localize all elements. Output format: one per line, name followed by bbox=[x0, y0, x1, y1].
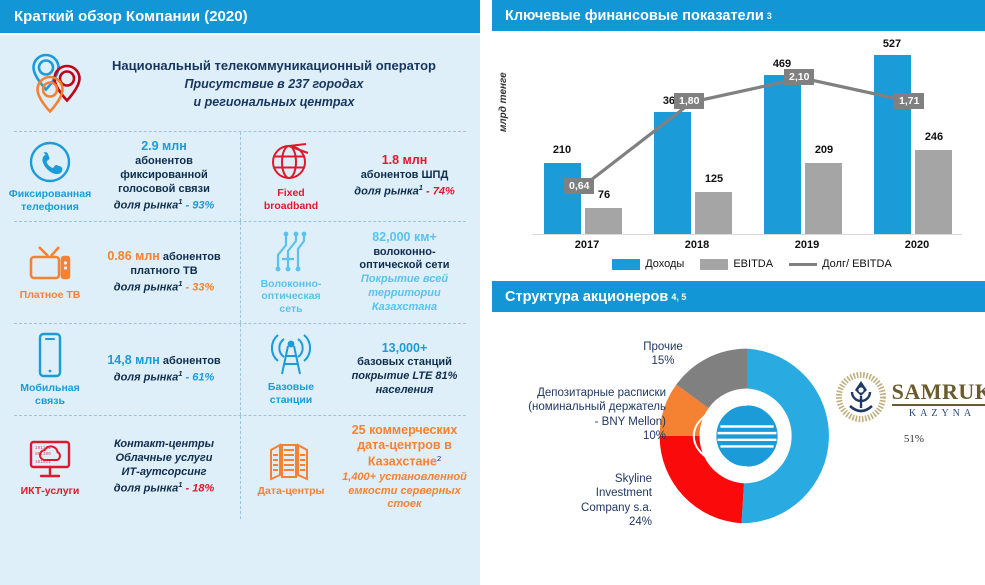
feature-text: 82,000 км+ волоконно- оптической сети По… bbox=[333, 230, 476, 315]
ratio-label-2018: 1,80 bbox=[674, 93, 704, 109]
feature-row: Мобильная связь 14,8 млн абонентов доля … bbox=[0, 324, 480, 415]
x-tick-2017: 2017 bbox=[532, 239, 642, 251]
feature-highlight: 13,000+ bbox=[335, 341, 474, 357]
market-share-label: доля рынка bbox=[114, 282, 178, 294]
x-tick-2019: 2019 bbox=[752, 239, 862, 251]
smartphone-icon: Мобильная связь bbox=[8, 331, 92, 408]
hero-line-1: Национальный телекоммуникационный операт… bbox=[100, 58, 448, 75]
feature-icon-label: Базовые станции bbox=[249, 381, 333, 407]
shareholders-header: Структура акционеров4, 5 bbox=[492, 281, 985, 312]
ratio-label-2020: 1,71 bbox=[894, 93, 924, 109]
footnote-ref: 4, 5 bbox=[671, 292, 686, 302]
chart-legend: Доходы EBITDA Долг/ EBITDA bbox=[532, 258, 972, 270]
ratio-label-2017: 0,64 bbox=[564, 178, 594, 194]
ict-cloud-monitor-icon: 101101001100101011 ИКТ-услуги bbox=[8, 438, 92, 498]
feature-highlight: 25 коммерческих bbox=[335, 423, 474, 439]
legend-swatch-icon bbox=[612, 259, 640, 270]
legend-line-icon bbox=[789, 263, 817, 266]
feature-icon-label: Фиксированная телефония bbox=[8, 188, 92, 214]
feature-text: 25 коммерческих дата-центров в Казахстан… bbox=[333, 423, 476, 513]
hero-block: Национальный телекоммуникационный операт… bbox=[0, 35, 480, 131]
samruk-kazyna-block: SAMRUK KAZYNA 51% bbox=[844, 372, 984, 445]
legend-label: EBITDA bbox=[733, 258, 773, 270]
market-share-value: - 74% bbox=[426, 186, 455, 198]
feature-line-1: волоконно- bbox=[335, 246, 474, 260]
fiber-optic-icon: Волоконно-оптическая сеть bbox=[249, 229, 333, 316]
x-axis-line bbox=[532, 234, 962, 235]
financials-bar-chart: млрд тенге 210 76 361 125 469 bbox=[492, 36, 985, 272]
debt-ebitda-line bbox=[532, 44, 972, 234]
market-share-value: - 18% bbox=[185, 483, 214, 495]
feature-icon-label: Fixed broadband bbox=[249, 187, 333, 213]
samruk-name: SAMRUK bbox=[892, 381, 985, 406]
cell-tower-icon: Базовые станции bbox=[249, 332, 333, 407]
company-overview-title: Краткий обзор Компании (2020) bbox=[14, 8, 248, 25]
feature-line-2: покрытие LTE 81% bbox=[335, 370, 474, 384]
feature-market-share: доля рынка1 - 18% bbox=[94, 480, 234, 497]
map-pins-icon bbox=[14, 47, 100, 121]
market-share-value: - 33% bbox=[185, 282, 214, 294]
feature-highlight-line: 14,8 млн абонентов bbox=[94, 353, 234, 369]
feature-highlight: 1.8 млн bbox=[335, 153, 474, 169]
feature-highlight: Контакт-центры bbox=[94, 438, 234, 452]
footnote-ref: 1 bbox=[178, 279, 182, 288]
pie-label-skyline: Skyline Investment Company s.a. 24% bbox=[534, 472, 652, 530]
market-share-label: доля рынка bbox=[354, 186, 418, 198]
company-overview-header: Краткий обзор Компании (2020) bbox=[0, 0, 480, 33]
footnote-ref: 1 bbox=[178, 197, 182, 206]
feature-row: Платное ТВ 0.86 млн абонентов платного Т… bbox=[0, 222, 480, 323]
feature-line-1: абонентов ШПД bbox=[335, 169, 474, 183]
feature-text: 13,000+ базовых станций покрытие LTE 81%… bbox=[333, 341, 476, 398]
slide-root: Краткий обзор Компании (2020) bbox=[0, 0, 985, 585]
feature-line-3: Покрытие всей территории Казахстана bbox=[335, 273, 474, 315]
pie-label-pct: 10% bbox=[498, 429, 666, 443]
svg-text:001100: 001100 bbox=[35, 452, 51, 457]
feature-line-2: фиксированной bbox=[94, 169, 234, 183]
key-financials-header: Ключевые финансовые показатели3 bbox=[492, 0, 985, 31]
feature-market-share: доля рынка1 - 74% bbox=[335, 183, 474, 200]
company-overview-panel: Краткий обзор Компании (2020) bbox=[0, 0, 480, 585]
feature-cell-ict: 101101001100101011 ИКТ-услуги Контакт-це… bbox=[0, 416, 240, 520]
feature-line-2: платного ТВ bbox=[94, 265, 234, 279]
feature-line-1: дата-центров в bbox=[357, 438, 452, 452]
feature-icon-label: Мобильная связь bbox=[8, 382, 92, 408]
shareholders-panel: Структура акционеров4, 5 bbox=[492, 281, 985, 585]
footnote-ref: 1 bbox=[178, 369, 182, 378]
samruk-percent: 51% bbox=[844, 433, 984, 445]
market-share-value: - 61% bbox=[185, 372, 214, 384]
feature-cell-fixed-broadband: Fixed broadband 1.8 млн абонентов ШПД до… bbox=[240, 132, 480, 221]
pie-label-line-1: Депозитарные расписки bbox=[498, 386, 666, 400]
x-tick-2020: 2020 bbox=[862, 239, 972, 251]
pie-label-name: Прочие bbox=[618, 340, 708, 354]
feature-cell-mobile: Мобильная связь 14,8 млн абонентов доля … bbox=[0, 324, 240, 415]
feature-text: 1.8 млн абонентов ШПД доля рынка1 - 74% bbox=[333, 153, 476, 199]
data-center-icon: Дата-центры bbox=[249, 438, 333, 498]
key-financials-title: Ключевые финансовые показатели bbox=[505, 8, 764, 24]
pie-label-pct: 24% bbox=[534, 515, 652, 529]
pie-label-line-1: Skyline bbox=[534, 472, 652, 486]
feature-highlight: 0.86 млн bbox=[107, 249, 160, 263]
feature-line-1: базовых станций bbox=[335, 356, 474, 370]
shareholders-body: Прочие 15% Депозитарные расписки (номина… bbox=[492, 314, 985, 585]
hero-line-2a: Присутствие в 237 городах bbox=[100, 76, 448, 92]
hero-text: Национальный телекоммуникационный операт… bbox=[100, 58, 466, 111]
feature-line-3: 1,400+ установленной емкости серверных с… bbox=[335, 471, 474, 513]
feature-row: 101101001100101011 ИКТ-услуги Контакт-це… bbox=[0, 416, 480, 520]
tv-icon: Платное ТВ bbox=[8, 242, 92, 302]
legend-item-ebitda[interactable]: EBITDA bbox=[700, 258, 773, 270]
feature-icon-label: Дата-центры bbox=[258, 485, 325, 498]
feature-cell-data-centers: Дата-центры 25 коммерческих дата-центров… bbox=[240, 416, 480, 520]
feature-row: Фиксированная телефония 2.9 млн абоненто… bbox=[0, 132, 480, 221]
pie-label-pct: 15% bbox=[618, 354, 708, 368]
feature-line-2: ИТ-аутсорсинг bbox=[94, 466, 234, 480]
feature-cell-base-stations: Базовые станции 13,000+ базовых станций … bbox=[240, 324, 480, 415]
legend-item-debt-ebitda[interactable]: Долг/ EBITDA bbox=[789, 258, 892, 270]
pie-label-line-3: - BNY Mellon) bbox=[498, 415, 666, 429]
feature-text: 2.9 млн абонентов фиксированной голосово… bbox=[92, 139, 236, 213]
feature-text: 14,8 млн абонентов доля рынка1 - 61% bbox=[92, 353, 236, 385]
x-axis-tick-labels: 2017 2018 2019 2020 bbox=[532, 239, 972, 251]
footnote-ref: 2 bbox=[437, 454, 441, 463]
feature-market-share: доля рынка1 - 61% bbox=[94, 369, 234, 386]
feature-icon-label: ИКТ-услуги bbox=[21, 485, 80, 498]
footnote-ref: 1 bbox=[419, 183, 423, 192]
market-share-value: - 93% bbox=[185, 199, 214, 211]
feature-cell-fixed-telephony: Фиксированная телефония 2.9 млн абоненто… bbox=[0, 132, 240, 221]
phone-handset-icon: Фиксированная телефония bbox=[8, 139, 92, 214]
feature-line-1: абонентов bbox=[94, 155, 234, 169]
feature-icon-label: Платное ТВ bbox=[20, 289, 81, 302]
footnote-ref: 3 bbox=[767, 11, 772, 21]
feature-line-3: населения bbox=[335, 384, 474, 398]
plot-area: 210 76 361 125 469 209 527 246 bbox=[532, 44, 972, 234]
samruk-kazyna-emblem-icon bbox=[836, 372, 886, 427]
pie-label-bny-mellon: Депозитарные расписки (номинальный держа… bbox=[498, 386, 666, 444]
market-share-label: доля рынка bbox=[114, 199, 178, 211]
feature-line-1: Облачные услуги bbox=[94, 452, 234, 466]
y-axis-label: млрд тенге bbox=[498, 72, 509, 132]
globe-broadband-icon: Fixed broadband bbox=[249, 140, 333, 213]
shareholders-title: Структура акционеров bbox=[505, 289, 668, 305]
hero-line-2b: и региональных центрах bbox=[100, 94, 448, 110]
feature-icon-label: Волоконно-оптическая сеть bbox=[249, 278, 333, 316]
pie-label-line-2: Investment bbox=[534, 486, 652, 500]
feature-market-share: доля рынка1 - 93% bbox=[94, 197, 234, 214]
x-tick-2018: 2018 bbox=[642, 239, 752, 251]
market-share-label: доля рынка bbox=[114, 372, 178, 384]
right-column: Ключевые финансовые показатели3 млрд тен… bbox=[492, 0, 985, 585]
feature-line-2: оптической сети bbox=[335, 259, 474, 273]
feature-line-2: Казахстане bbox=[368, 455, 437, 469]
samruk-sub: KAZYNA bbox=[892, 408, 985, 419]
pie-label-line-2: (номинальный держатель bbox=[498, 400, 666, 414]
svg-text:101101: 101101 bbox=[35, 446, 51, 451]
feature-line-2-wrap: Казахстане2 bbox=[335, 454, 474, 471]
key-financials-panel: Ключевые финансовые показатели3 млрд тен… bbox=[492, 0, 985, 272]
svg-text:101011: 101011 bbox=[35, 460, 51, 465]
feature-highlight: 2.9 млн bbox=[94, 139, 234, 155]
feature-line-3: голосовой связи bbox=[94, 183, 234, 197]
pie-label-line-3: Company s.a. bbox=[534, 501, 652, 515]
legend-label: Доходы bbox=[645, 258, 684, 270]
company-overview-body: Национальный телекоммуникационный операт… bbox=[0, 35, 480, 585]
feature-highlight: 14,8 млн bbox=[107, 353, 160, 367]
feature-cell-fiber-optic: Волоконно-оптическая сеть 82,000 км+ вол… bbox=[240, 222, 480, 323]
legend-item-revenue[interactable]: Доходы bbox=[612, 258, 684, 270]
feature-highlight-line: 0.86 млн абонентов bbox=[94, 249, 234, 265]
feature-text: Контакт-центры Облачные услуги ИТ-аутсор… bbox=[92, 438, 236, 496]
feature-line-1-wrap: дата-центров в bbox=[335, 438, 474, 454]
legend-swatch-icon bbox=[700, 259, 728, 270]
market-share-label: доля рынка bbox=[114, 483, 178, 495]
feature-text: 0.86 млн абонентов платного ТВ доля рынк… bbox=[92, 249, 236, 295]
feature-line-1: абонентов bbox=[163, 251, 221, 263]
feature-line-1: абонентов bbox=[163, 355, 221, 367]
feature-market-share: доля рынка1 - 33% bbox=[94, 279, 234, 296]
pie-label-other: Прочие 15% bbox=[618, 340, 708, 369]
legend-label: Долг/ EBITDA bbox=[822, 258, 892, 270]
ratio-label-2019: 2,10 bbox=[784, 69, 814, 85]
footnote-ref: 1 bbox=[178, 480, 182, 489]
feature-highlight: 82,000 км+ bbox=[335, 230, 474, 246]
feature-cell-pay-tv: Платное ТВ 0.86 млн абонентов платного Т… bbox=[0, 222, 240, 323]
